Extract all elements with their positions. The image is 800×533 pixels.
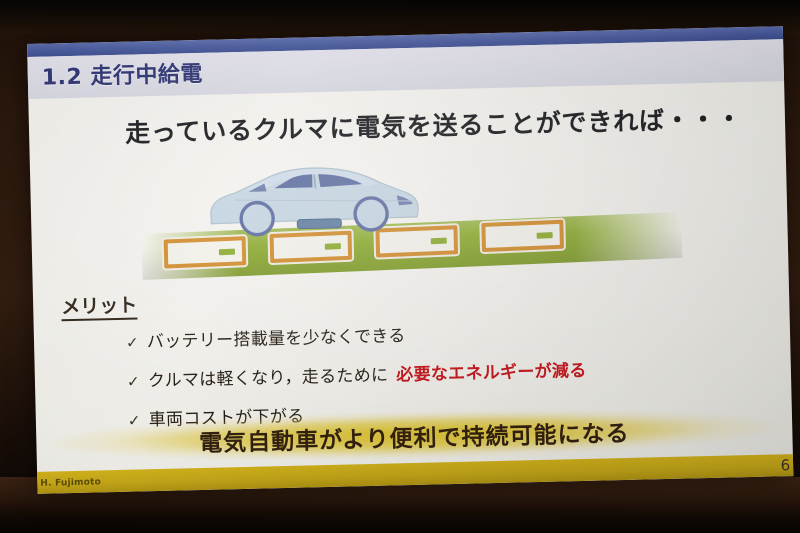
electric-vehicle-car-icon (204, 153, 424, 242)
check-icon: ✓ (126, 333, 139, 351)
list-item-label: クルマは軽くなり，走るために (148, 361, 389, 392)
merit-heading: メリット (61, 295, 138, 321)
photo-of-projected-slide: 1.2 走行中給電 走っているクルマに電気を送ることができれば・・・ (0, 0, 800, 533)
lead-sentence: 走っているクルマに電気を送ることができれば・・・ (125, 99, 743, 150)
list-item: ✓ クルマは軽くなり，走るために必要なエネルギーが減る (127, 356, 587, 392)
illustration-running-ev-on-road (140, 147, 683, 280)
footer-author: H. Fujimoto (40, 477, 101, 488)
slide-title: 1.2 走行中給電 (41, 56, 203, 92)
list-item-highlight: 必要なエネルギーが減る (396, 356, 587, 385)
page-number: 6 (780, 456, 790, 474)
list-item: ✓ バッテリー搭載量を少なくできる (126, 317, 586, 353)
projection-screen: 1.2 走行中給電 走っているクルマに電気を送ることができれば・・・ (27, 26, 793, 494)
slide-surface: 1.2 走行中給電 走っているクルマに電気を送ることができれば・・・ (27, 26, 793, 494)
check-icon: ✓ (127, 372, 140, 390)
power-transmission-coil (481, 220, 564, 252)
list-item-label: バッテリー搭載量を少なくできる (147, 321, 406, 352)
